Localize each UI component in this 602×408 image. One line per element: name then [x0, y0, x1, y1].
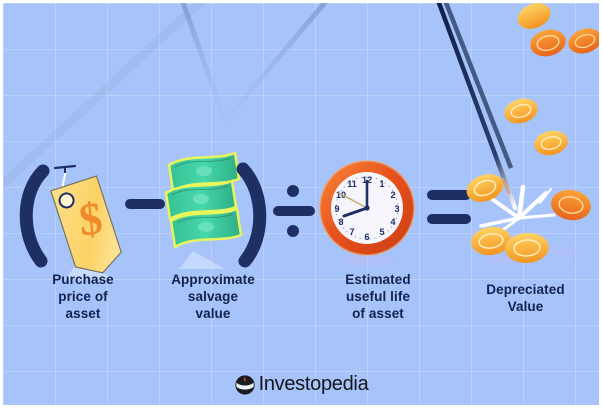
svg-text:9: 9	[334, 204, 339, 214]
label-line: asset	[13, 305, 153, 322]
svg-text:8: 8	[338, 217, 343, 227]
svg-text:3: 3	[394, 204, 399, 214]
label-line: useful life	[303, 288, 453, 305]
open-parenthesis-icon	[26, 171, 43, 261]
coin	[514, 3, 555, 33]
minus-sign-icon	[125, 199, 165, 209]
label-line: Estimated	[303, 271, 453, 288]
label-line: Depreciated	[453, 281, 598, 298]
label-line: Value	[453, 298, 598, 315]
svg-text:4: 4	[390, 217, 395, 227]
equals-sign-icon	[427, 190, 471, 224]
svg-text:2: 2	[390, 190, 395, 200]
svg-text:7: 7	[349, 227, 354, 237]
coin	[532, 128, 570, 159]
wall-clock-icon: 12 1 2 3 4 5 6 7 8 9 10 11	[320, 161, 414, 269]
label-depreciated-value: Depreciated Value	[453, 281, 598, 315]
investopedia-globe-icon	[234, 374, 256, 396]
label-purchase-price: Purchase price of asset	[13, 271, 153, 322]
label-line: value	[143, 305, 283, 322]
label-line: Purchase	[13, 271, 153, 288]
infographic-canvas: $	[0, 0, 602, 408]
svg-text:5: 5	[379, 227, 384, 237]
falling-coins-icon	[439, 3, 602, 266]
label-line: of asset	[303, 305, 453, 322]
division-sign-icon	[273, 185, 315, 237]
formula-illustration: $	[3, 3, 602, 408]
label-line: Approximate	[143, 271, 283, 288]
price-tag-icon: $	[51, 166, 126, 280]
svg-text:1: 1	[379, 179, 384, 189]
investopedia-logo: Investopedia	[3, 373, 599, 396]
label-line: salvage	[143, 288, 283, 305]
coin	[549, 187, 594, 223]
investopedia-wordmark: Investopedia	[259, 373, 369, 396]
coin	[565, 24, 602, 57]
svg-text:11: 11	[347, 179, 357, 189]
coin	[501, 95, 540, 127]
svg-text:10: 10	[336, 190, 346, 200]
coin	[527, 26, 568, 60]
banknotes-icon	[166, 153, 241, 269]
label-line: price of	[13, 288, 153, 305]
label-salvage-value: Approximate salvage value	[143, 271, 283, 322]
label-useful-life: Estimated useful life of asset	[303, 271, 453, 322]
close-parenthesis-icon	[243, 169, 260, 261]
svg-text:6: 6	[364, 232, 369, 242]
